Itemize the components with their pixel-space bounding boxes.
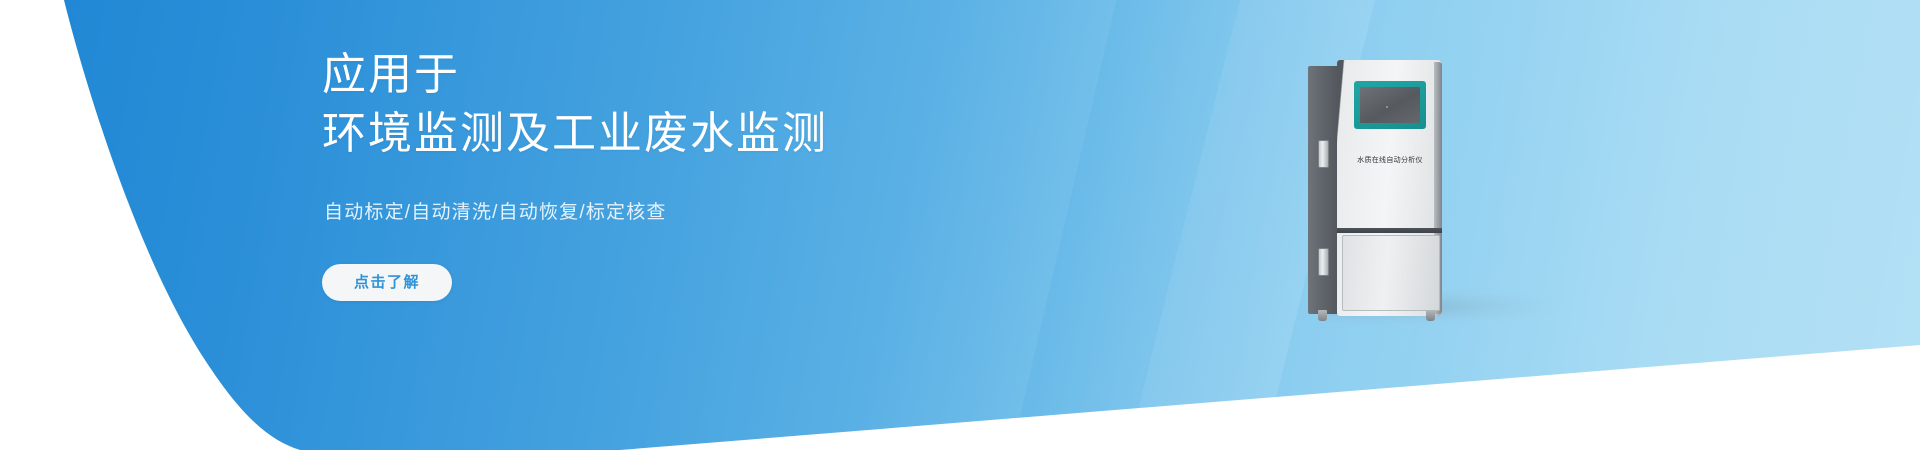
display-screen-icon: [1360, 87, 1420, 123]
page-title: 应用于 环境监测及工业废水监测: [322, 46, 1042, 163]
headline-line-1: 应用于: [322, 50, 460, 99]
hero-banner: 应用于 环境监测及工业废水监测 自动标定/自动清洗/自动恢复/标定核查 点击了解…: [0, 0, 1920, 450]
banner-copy: 应用于 环境监测及工业废水监测 自动标定/自动清洗/自动恢复/标定核查 点击了解: [322, 46, 1042, 301]
cabinet-lower-door: [1342, 235, 1440, 311]
product-label: 水质在线自动分析仪: [1341, 155, 1439, 165]
cabinet-divider: [1337, 228, 1442, 233]
caster-wheel-icon-right: [1426, 310, 1435, 321]
learn-more-button[interactable]: 点击了解: [322, 264, 452, 301]
cabinet-side-panel: [1308, 66, 1338, 314]
analyzer-cabinet: 水质在线自动分析仪: [1308, 60, 1458, 320]
door-handle-icon-lower: [1318, 248, 1329, 276]
banner-subtitle: 自动标定/自动清洗/自动恢复/标定核查: [324, 197, 1042, 224]
display-screen-bezel: [1354, 81, 1426, 129]
headline-line-2: 环境监测及工业废水监测: [322, 105, 1042, 164]
caster-wheel-icon-left: [1318, 310, 1327, 321]
screen-pixel-dot: [1386, 106, 1388, 108]
product-image-water-analyzer: 水质在线自动分析仪: [1308, 60, 1458, 320]
door-handle-icon-upper: [1318, 140, 1329, 168]
